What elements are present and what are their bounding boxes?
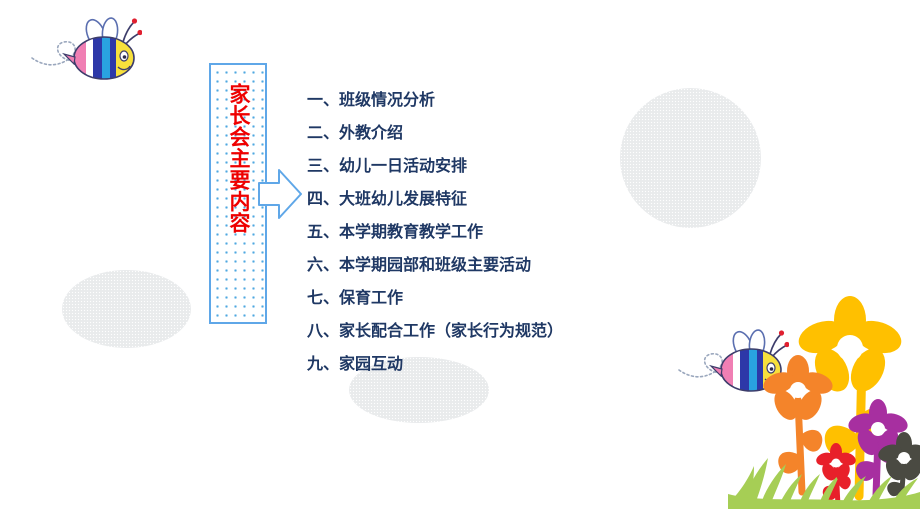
decor-ellipse-left [62,270,191,348]
list-item: 四、大班幼儿发展特征 [307,182,637,215]
presentation-slide: 家长会主要内容 一、班级情况分析 二、外教介绍 三、幼儿一日活动安排 四、大班幼… [0,0,920,518]
list-item: 一、班级情况分析 [307,83,637,116]
list-item: 九、家园互动 [307,347,637,380]
list-item: 七、保育工作 [307,281,637,314]
list-item: 八、家长配合工作（家长行为规范） [307,314,637,347]
list-item: 六、本学期园部和班级主要活动 [307,248,637,281]
flower-garden-illustration [728,296,920,518]
list-item: 二、外教介绍 [307,116,637,149]
page-title: 家长会主要内容 [226,83,250,283]
right-block-arrow-icon [258,168,302,220]
list-item: 三、幼儿一日活动安排 [307,149,637,182]
list-item: 五、本学期教育教学工作 [307,215,637,248]
bee-icon [26,12,142,91]
decor-ellipse-right [620,88,761,228]
agenda-list: 一、班级情况分析 二、外教介绍 三、幼儿一日活动安排 四、大班幼儿发展特征 五、… [307,83,637,380]
